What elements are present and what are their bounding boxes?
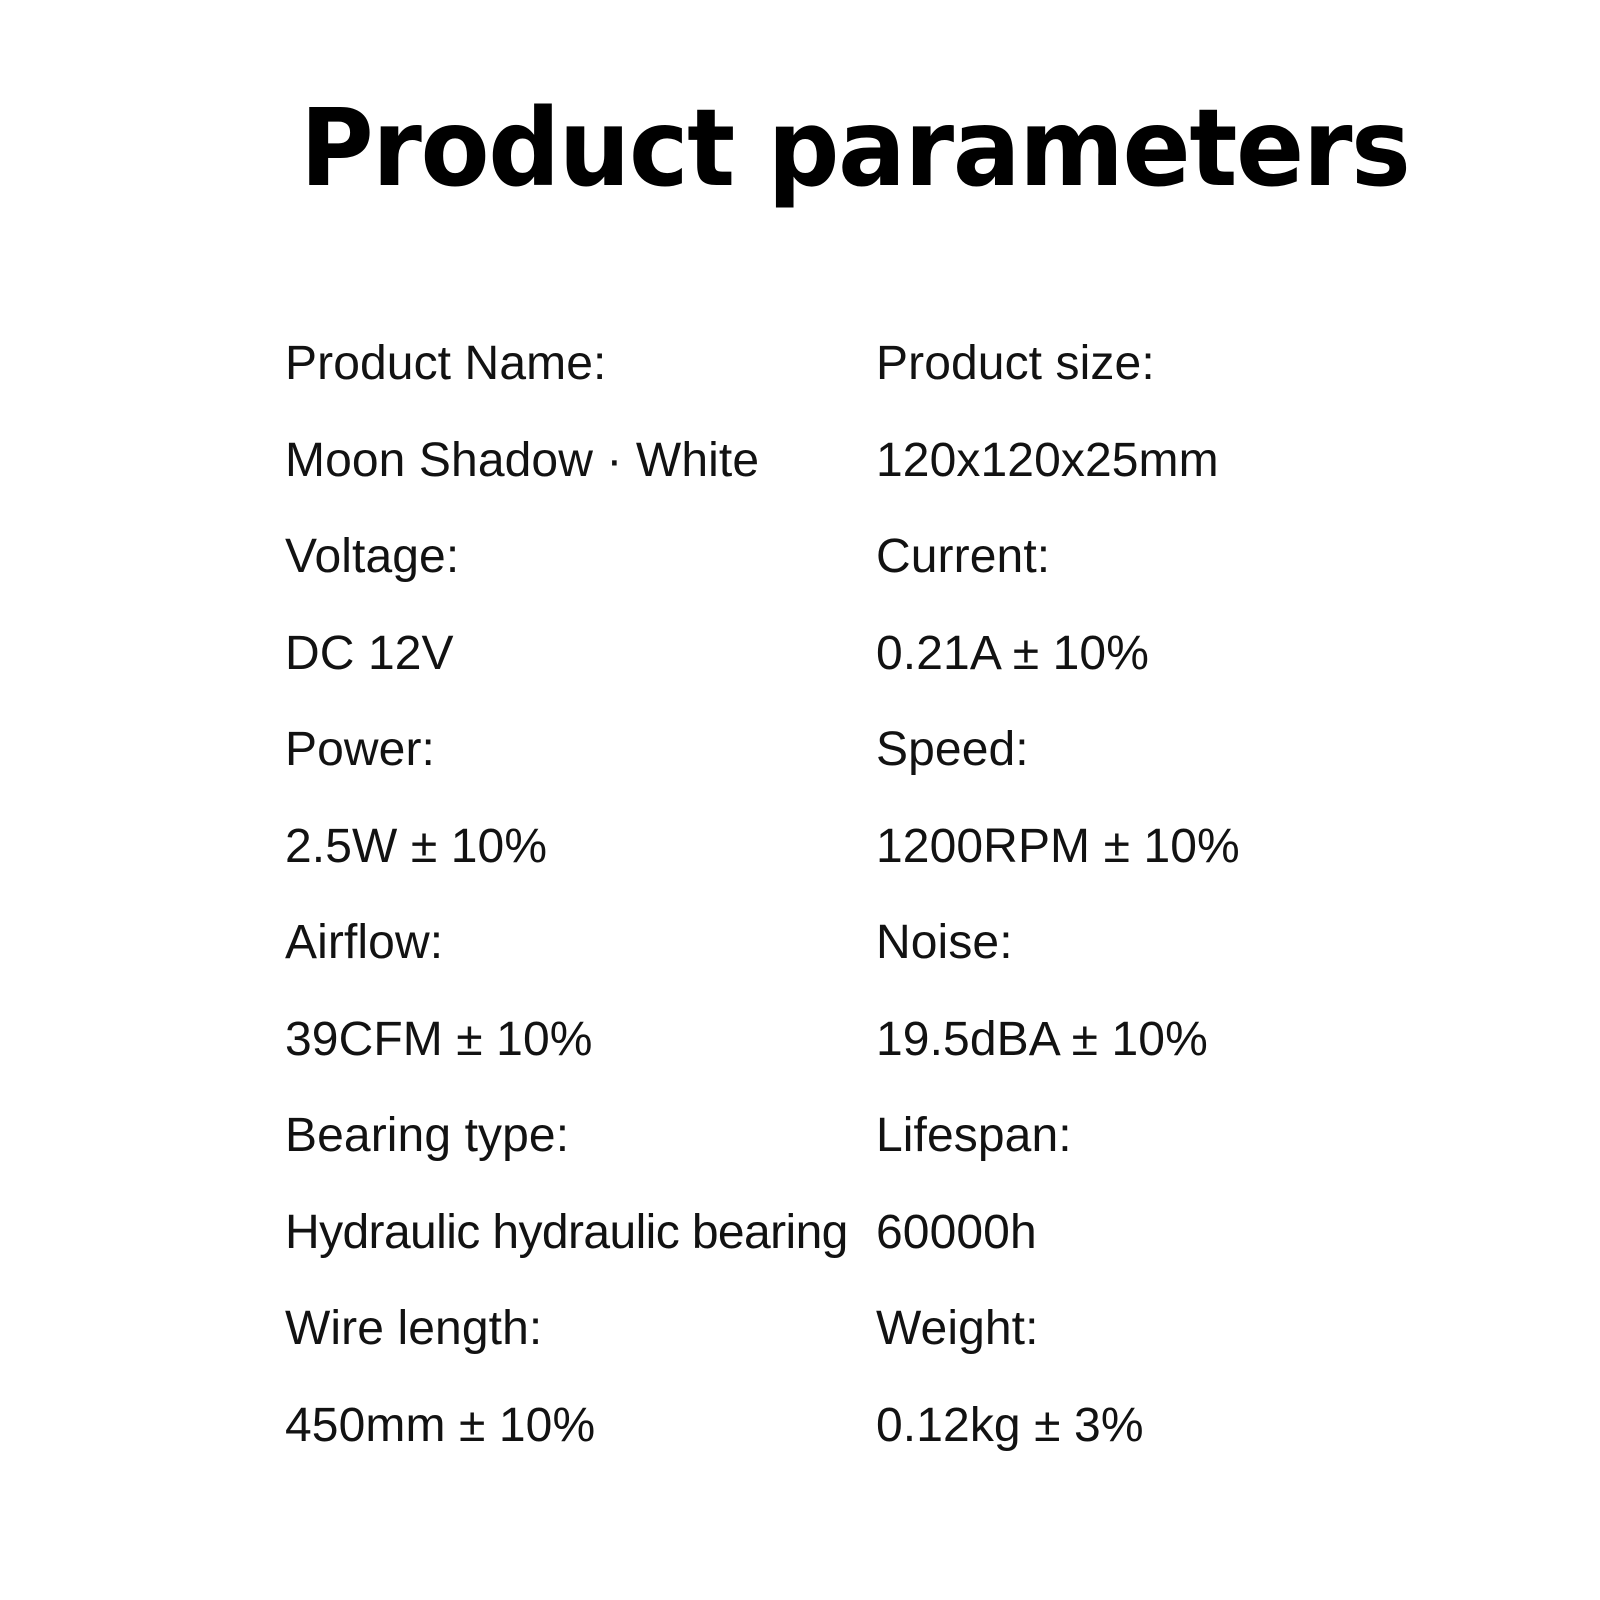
spec-value: 0.21A ± 10% xyxy=(876,581,1467,678)
spec-label: Voltage: xyxy=(285,525,876,581)
spec-value: 450mm ± 10% xyxy=(285,1353,876,1450)
spec-item-noise: Noise: 19.5dBA ± 10% xyxy=(876,911,1467,1104)
spec-item-speed: Speed: 1200RPM ± 10% xyxy=(876,718,1467,911)
spec-value: 0.12kg ± 3% xyxy=(876,1353,1467,1450)
spec-label: Product Name: xyxy=(285,332,876,388)
spec-value: 60000h xyxy=(876,1160,1467,1257)
spec-item-wire-length: Wire length: 450mm ± 10% xyxy=(285,1297,876,1490)
spec-label: Wire length: xyxy=(285,1297,876,1353)
product-parameters-sheet: Product parameters Product Name: Moon Sh… xyxy=(0,0,1600,1600)
spec-label: Product size: xyxy=(876,332,1467,388)
spec-item-product-name: Product Name: Moon Shadow · White xyxy=(285,332,876,525)
spec-label: Current: xyxy=(876,525,1467,581)
spec-label: Bearing type: xyxy=(285,1104,876,1160)
spec-label: Noise: xyxy=(876,911,1467,967)
spec-label: Lifespan: xyxy=(876,1104,1467,1160)
spec-value: DC 12V xyxy=(285,581,876,678)
spec-value: 120x120x25mm xyxy=(876,388,1467,485)
page-title: Product parameters xyxy=(300,92,1296,208)
spec-label: Speed: xyxy=(876,718,1467,774)
spec-item-weight: Weight: 0.12kg ± 3% xyxy=(876,1297,1467,1490)
spec-value: 2.5W ± 10% xyxy=(285,774,876,871)
spec-item-lifespan: Lifespan: 60000h xyxy=(876,1104,1467,1297)
spec-item-power: Power: 2.5W ± 10% xyxy=(285,718,876,911)
spec-value: 39CFM ± 10% xyxy=(285,967,876,1064)
spec-item-airflow: Airflow: 39CFM ± 10% xyxy=(285,911,876,1104)
spec-grid: Product Name: Moon Shadow · White Produc… xyxy=(285,332,1525,1490)
spec-label: Airflow: xyxy=(285,911,876,967)
spec-label: Weight: xyxy=(876,1297,1467,1353)
spec-value: Hydraulic hydraulic bearing xyxy=(285,1160,876,1257)
spec-label: Power: xyxy=(285,718,876,774)
spec-item-voltage: Voltage: DC 12V xyxy=(285,525,876,718)
spec-value: Moon Shadow · White xyxy=(285,388,876,485)
spec-item-current: Current: 0.21A ± 10% xyxy=(876,525,1467,718)
spec-value: 1200RPM ± 10% xyxy=(876,774,1467,871)
spec-item-product-size: Product size: 120x120x25mm xyxy=(876,332,1467,525)
spec-value: 19.5dBA ± 10% xyxy=(876,967,1467,1064)
spec-item-bearing-type: Bearing type: Hydraulic hydraulic bearin… xyxy=(285,1104,876,1297)
